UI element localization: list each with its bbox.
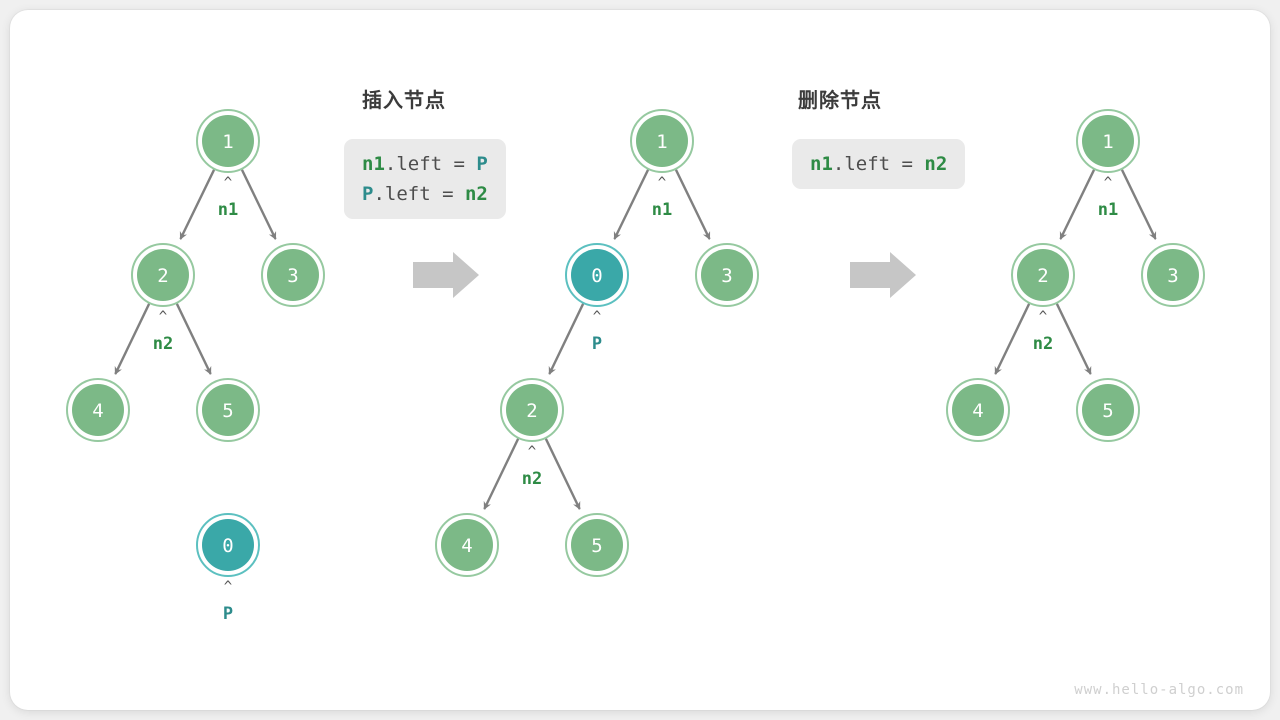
- node-pointer-label: ^n1: [652, 175, 672, 220]
- node-value-label: 2: [157, 265, 168, 287]
- code-token: .left =: [385, 153, 477, 175]
- node-value-label: 4: [972, 400, 983, 422]
- node-pointer-label: ^P: [592, 309, 602, 354]
- pointer-caret-icon: ^: [159, 309, 167, 325]
- node-value-label: 5: [222, 400, 233, 422]
- tree-edge: [242, 170, 276, 239]
- node-value-label: 3: [1167, 265, 1178, 287]
- tree-node[interactable]: 5: [1077, 379, 1139, 441]
- tree-node[interactable]: 3: [262, 244, 324, 306]
- tree-node[interactable]: 5: [566, 514, 628, 576]
- node-value-label: 1: [1102, 131, 1113, 153]
- node-pointer-label: ^n2: [522, 444, 542, 489]
- pointer-name-label: n2: [1033, 334, 1053, 354]
- code-token-var: n2: [924, 153, 947, 175]
- tree-node[interactable]: 0: [566, 244, 628, 306]
- tree-edge: [546, 439, 580, 509]
- code-token-var: n2: [465, 183, 488, 205]
- transition-arrows-layer: [413, 252, 916, 298]
- tree-node[interactable]: 2: [1012, 244, 1074, 306]
- node-value-label: 5: [591, 535, 602, 557]
- node-value-label: 2: [1037, 265, 1048, 287]
- transition-arrow-icon: [413, 252, 479, 298]
- tree-node[interactable]: 3: [696, 244, 758, 306]
- tree-edges-layer: [115, 170, 1155, 509]
- node-value-label: 1: [656, 131, 667, 153]
- pointer-name-label: n2: [153, 334, 173, 354]
- node-value-label: 5: [1102, 400, 1113, 422]
- code-token: .left =: [373, 183, 465, 205]
- pointer-name-label: n2: [522, 469, 542, 489]
- node-value-label: 4: [461, 535, 472, 557]
- code-line: P.left = n2: [362, 179, 488, 209]
- transition-arrow-icon: [850, 252, 916, 298]
- node-value-label: 1: [222, 131, 233, 153]
- code-token-var: P: [362, 183, 373, 205]
- tree-edge: [614, 170, 648, 239]
- tree-node[interactable]: 2: [501, 379, 563, 441]
- tree-edge: [995, 304, 1029, 374]
- tree-edge: [180, 170, 214, 239]
- code-token-var: n1: [810, 153, 833, 175]
- tree-edge: [484, 439, 518, 509]
- pointer-name-label: n1: [652, 200, 672, 220]
- code-token-var: P: [476, 153, 487, 175]
- tree-edge: [676, 170, 710, 239]
- pointer-name-label: n1: [218, 200, 238, 220]
- tree-node[interactable]: 2: [132, 244, 194, 306]
- node-pointer-label: ^n2: [153, 309, 173, 354]
- pointer-caret-icon: ^: [528, 444, 536, 460]
- node-pointer-label: ^n1: [218, 175, 238, 220]
- tree-edge: [177, 304, 211, 374]
- tree-edge: [1060, 170, 1094, 239]
- tree-edge: [549, 304, 583, 374]
- code-token-var: n1: [362, 153, 385, 175]
- tree-node[interactable]: 1: [631, 110, 693, 172]
- section-title-delete: 删除节点: [798, 84, 882, 113]
- tree-node[interactable]: 1: [197, 110, 259, 172]
- diagram-canvas: 1^n12^n23450^P1^n10^P32^n2451^n12^n2345 …: [0, 0, 1280, 720]
- pointer-name-label: P: [223, 604, 233, 624]
- pointer-name-label: P: [592, 334, 602, 354]
- node-value-label: 0: [222, 535, 233, 557]
- tree-diagram-svg: 1^n12^n23450^P1^n10^P32^n2451^n12^n2345: [0, 0, 1280, 720]
- section-title-insert: 插入节点: [362, 84, 446, 113]
- tree-node[interactable]: 4: [67, 379, 129, 441]
- node-value-label: 3: [721, 265, 732, 287]
- node-value-label: 0: [591, 265, 602, 287]
- tree-nodes-layer: 1^n12^n23450^P1^n10^P32^n2451^n12^n2345: [67, 110, 1204, 624]
- node-pointer-label: ^n2: [1033, 309, 1053, 354]
- pointer-caret-icon: ^: [1104, 175, 1112, 191]
- tree-node[interactable]: 0: [197, 514, 259, 576]
- tree-node[interactable]: 1: [1077, 110, 1139, 172]
- pointer-caret-icon: ^: [224, 579, 232, 595]
- code-box-delete: n1.left = n2: [792, 139, 965, 189]
- watermark-url: www.hello-algo.com: [1074, 682, 1244, 698]
- tree-node[interactable]: 4: [436, 514, 498, 576]
- code-line: n1.left = P: [362, 149, 488, 179]
- tree-node[interactable]: 4: [947, 379, 1009, 441]
- pointer-name-label: n1: [1098, 200, 1118, 220]
- node-value-label: 2: [526, 400, 537, 422]
- tree-node[interactable]: 5: [197, 379, 259, 441]
- node-pointer-label: ^P: [223, 579, 233, 624]
- pointer-caret-icon: ^: [1039, 309, 1047, 325]
- pointer-caret-icon: ^: [593, 309, 601, 325]
- tree-node[interactable]: 3: [1142, 244, 1204, 306]
- node-value-label: 4: [92, 400, 103, 422]
- code-box-insert: n1.left = PP.left = n2: [344, 139, 506, 219]
- tree-edge: [1057, 304, 1091, 374]
- node-value-label: 3: [287, 265, 298, 287]
- tree-edge: [115, 304, 149, 374]
- code-line: n1.left = n2: [810, 149, 947, 179]
- pointer-caret-icon: ^: [224, 175, 232, 191]
- code-token: .left =: [833, 153, 925, 175]
- pointer-caret-icon: ^: [658, 175, 666, 191]
- node-pointer-label: ^n1: [1098, 175, 1118, 220]
- tree-edge: [1122, 170, 1156, 239]
